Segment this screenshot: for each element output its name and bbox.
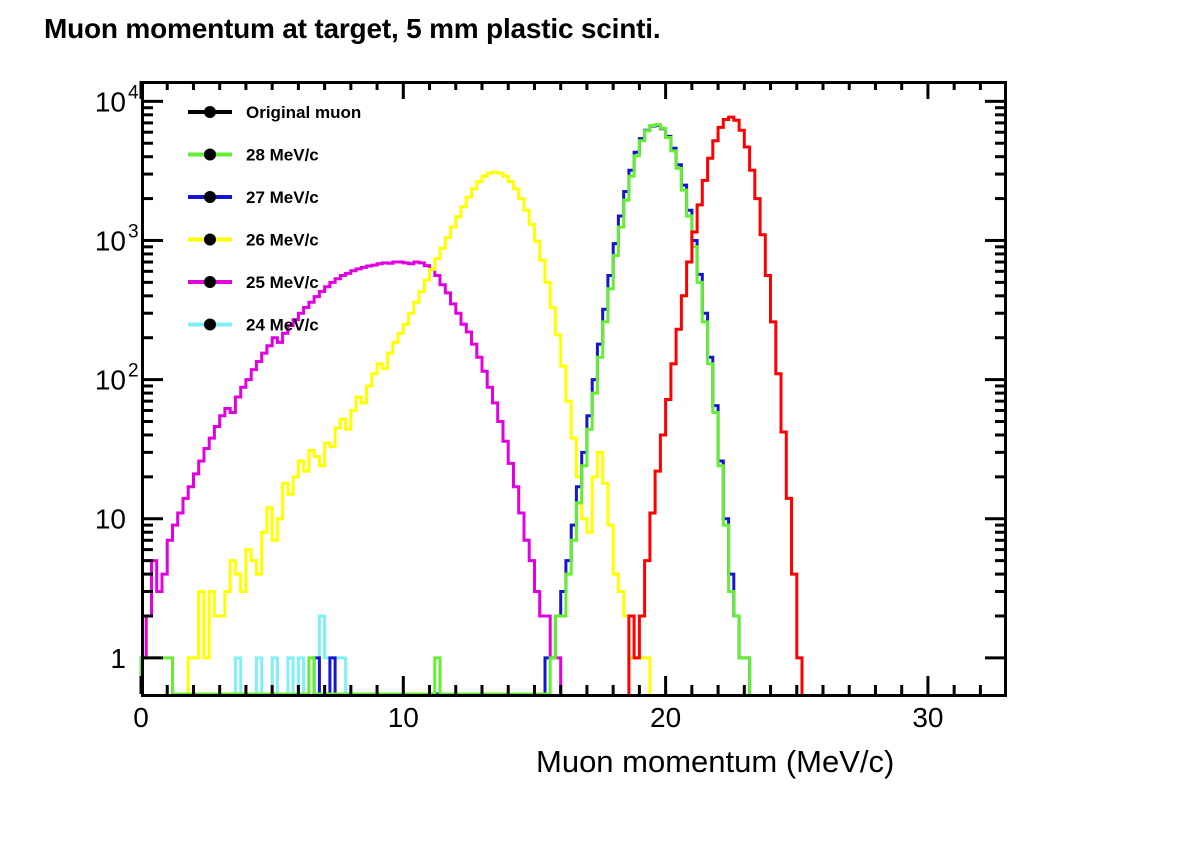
x-tick-label-0: 0: [133, 702, 149, 733]
x-tick-top-10: [402, 81, 405, 99]
x-tick-top-29: [900, 81, 903, 90]
y-tick-label-group-2: 102: [95, 361, 139, 396]
y-tick-6000: [141, 131, 153, 134]
y-tick-2: [141, 614, 153, 617]
legend-entry-3[interactable]: 26 MeV/c: [188, 231, 319, 250]
x-tick-32: [979, 685, 982, 694]
y-tick-2000: [141, 197, 153, 200]
y-tick-right-10: [985, 517, 1007, 520]
x-tick-24: [769, 685, 772, 694]
series-curve-28-mev-c: [141, 125, 750, 694]
y-tick-right-20: [995, 475, 1007, 478]
y-tick-900: [141, 245, 153, 248]
x-tick-27: [848, 685, 851, 694]
y-tick-50: [141, 420, 153, 423]
x-tick-top-27: [848, 81, 851, 90]
y-tick-right-700: [995, 261, 1007, 264]
x-tick-22: [717, 685, 720, 694]
x-tick-25: [795, 685, 798, 694]
y-tick-right-100: [985, 378, 1007, 381]
y-tick-40: [141, 433, 153, 436]
y-tick-right-60: [995, 409, 1007, 412]
y-tick-right-500: [995, 281, 1007, 284]
x-tick-0: [140, 676, 143, 694]
y-tick-10000: [141, 100, 163, 103]
histogram-plot: 0102030110102103104 Original muon28 MeV/…: [0, 0, 1181, 847]
x-tick-28: [874, 685, 877, 694]
x-tick-top-5: [271, 81, 274, 90]
x-tick-8: [349, 685, 352, 694]
x-tick-top-22: [717, 81, 720, 90]
y-tick-right-300: [995, 312, 1007, 315]
legend-layer: Original muon28 MeV/c27 MeV/c26 MeV/c25 …: [188, 103, 361, 335]
legend-entry-4[interactable]: 25 MeV/c: [188, 273, 319, 292]
y-tick-5000: [141, 142, 153, 145]
x-tick-13: [481, 685, 484, 694]
x-tick-20: [664, 676, 667, 694]
y-tick-6: [141, 548, 153, 551]
y-tick-500: [141, 281, 153, 284]
x-tick-30: [926, 676, 929, 694]
y-tick-60: [141, 409, 153, 412]
y-tick-800: [141, 252, 153, 255]
legend-label-3: 26 MeV/c: [246, 231, 319, 250]
y-tick-8000: [141, 113, 153, 116]
y-tick-right-10000: [985, 100, 1007, 103]
y-tick-5: [141, 559, 153, 562]
x-tick-top-31: [953, 81, 956, 90]
chart-canvas: Muon momentum at target, 5 mm plastic sc…: [0, 0, 1181, 847]
page-title: Muon momentum at target, 5 mm plastic sc…: [44, 13, 660, 45]
x-tick-14: [507, 685, 510, 694]
x-tick-26: [822, 685, 825, 694]
y-tick-30: [141, 451, 153, 454]
y-tick-label-group-3: 103: [95, 221, 139, 256]
y-tick-label-2: 10: [95, 365, 126, 396]
x-tick-top-24: [769, 81, 772, 90]
x-tick-top-1: [166, 81, 169, 90]
x-tick-top-14: [507, 81, 510, 90]
y-tick-right-6: [995, 548, 1007, 551]
y-tick-right-7000: [995, 121, 1007, 124]
y-tick-label-group-1: 10: [95, 504, 126, 535]
x-tick-top-15: [533, 81, 536, 90]
y-tick-right-40: [995, 433, 1007, 436]
x-tick-18: [612, 685, 615, 694]
x-tick-4: [244, 685, 247, 694]
y-tick-70: [141, 400, 153, 403]
x-tick-top-19: [638, 81, 641, 90]
x-tick-top-16: [559, 81, 562, 90]
x-tick-5: [271, 685, 274, 694]
x-tick-top-26: [822, 81, 825, 90]
legend-marker-1: [204, 149, 216, 161]
y-tick-90: [141, 384, 153, 387]
legend-label-4: 25 MeV/c: [246, 273, 319, 292]
legend-entry-5[interactable]: 24 MeV/c: [188, 316, 319, 335]
series-curve-26-mev-c: [188, 172, 650, 694]
y-tick-right-200: [995, 336, 1007, 339]
y-tick-right-1: [985, 656, 1007, 659]
y-tick-right-9: [995, 524, 1007, 527]
y-tick-9: [141, 524, 153, 527]
y-tick-right-90: [995, 384, 1007, 387]
y-tick-3000: [141, 173, 153, 176]
x-tick-top-20: [664, 81, 667, 99]
legend-entry-0[interactable]: Original muon: [188, 103, 361, 122]
x-tick-11: [428, 685, 431, 694]
x-tick-top-30: [926, 81, 929, 99]
x-tick-top-12: [454, 81, 457, 90]
x-tick-top-18: [612, 81, 615, 90]
legend-entry-2[interactable]: 27 MeV/c: [188, 188, 319, 207]
x-tick-top-3: [218, 81, 221, 90]
y-tick-400: [141, 294, 153, 297]
y-tick-right-4000: [995, 155, 1007, 158]
y-tick-right-800: [995, 252, 1007, 255]
y-tick-right-3: [995, 590, 1007, 593]
x-tick-29: [900, 685, 903, 694]
y-tick-label-group-0: 1: [110, 643, 126, 674]
y-tick-4000: [141, 155, 153, 158]
x-tick-label-30: 30: [912, 702, 943, 733]
legend-marker-5: [204, 319, 216, 331]
y-tick-right-50: [995, 420, 1007, 423]
y-tick-right-5000: [995, 142, 1007, 145]
y-tick-3: [141, 590, 153, 593]
y-tick-label-exponent-4: 4: [128, 82, 139, 103]
x-tick-23: [743, 685, 746, 694]
series-curve-27-mev-c: [314, 126, 749, 695]
y-tick-right-80: [995, 392, 1007, 395]
legend-label-5: 24 MeV/c: [246, 316, 319, 335]
y-tick-right-600: [995, 270, 1007, 273]
x-tick-31: [953, 685, 956, 694]
x-tick-7: [323, 685, 326, 694]
y-tick-label-exponent-2: 2: [128, 361, 139, 382]
y-tick-right-900: [995, 245, 1007, 248]
x-tick-top-6: [297, 81, 300, 90]
y-tick-label-4: 10: [95, 86, 126, 117]
x-tick-top-17: [585, 81, 588, 90]
legend-entry-1[interactable]: 28 MeV/c: [188, 146, 319, 165]
legend-marker-4: [204, 276, 216, 288]
x-tick-3: [218, 685, 221, 694]
x-tick-17: [585, 685, 588, 694]
legend-marker-2: [204, 191, 216, 203]
x-tick-top-32: [979, 81, 982, 90]
y-tick-right-30: [995, 451, 1007, 454]
x-tick-top-9: [376, 81, 379, 90]
legend-marker-3: [204, 234, 216, 246]
x-tick-1: [166, 685, 169, 694]
x-tick-19: [638, 685, 641, 694]
y-tick-right-5: [995, 559, 1007, 562]
x-tick-10: [402, 676, 405, 694]
x-tick-6: [297, 685, 300, 694]
y-tick-1000: [141, 239, 163, 242]
y-tick-7: [141, 539, 153, 542]
y-tick-right-2: [995, 614, 1007, 617]
x-tick-top-4: [244, 81, 247, 90]
y-tick-label-0: 1: [110, 643, 126, 674]
x-tick-top-2: [192, 81, 195, 90]
x-tick-top-0: [140, 81, 143, 99]
x-tick-label-10: 10: [388, 702, 419, 733]
x-tick-top-28: [874, 81, 877, 90]
x-tick-21: [690, 685, 693, 694]
x-tick-label-20: 20: [650, 702, 681, 733]
y-tick-right-7: [995, 539, 1007, 542]
x-tick-top-13: [481, 81, 484, 90]
y-tick-right-2000: [995, 197, 1007, 200]
x-tick-12: [454, 685, 457, 694]
y-tick-right-8000: [995, 113, 1007, 116]
y-tick-right-6000: [995, 131, 1007, 134]
legend-label-0: Original muon: [246, 103, 361, 122]
x-tick-9: [376, 685, 379, 694]
y-tick-label-group-4: 104: [95, 82, 139, 117]
y-tick-600: [141, 270, 153, 273]
legend-marker-0: [204, 106, 216, 118]
y-tick-right-1000: [985, 239, 1007, 242]
y-tick-right-8: [995, 531, 1007, 534]
y-tick-right-400: [995, 294, 1007, 297]
y-tick-1: [141, 656, 163, 659]
y-tick-label-exponent-3: 3: [128, 221, 139, 242]
y-tick-right-3000: [995, 173, 1007, 176]
y-tick-right-70: [995, 400, 1007, 403]
y-tick-10: [141, 517, 163, 520]
x-tick-top-11: [428, 81, 431, 90]
y-tick-300: [141, 312, 153, 315]
y-tick-4: [141, 573, 153, 576]
y-tick-20: [141, 475, 153, 478]
x-tick-15: [533, 685, 536, 694]
axis-frame-layer: [140, 81, 1008, 697]
y-tick-8: [141, 531, 153, 534]
legend-label-2: 27 MeV/c: [246, 188, 319, 207]
x-tick-16: [559, 685, 562, 694]
x-axis-title: Muon momentum (MeV/c): [536, 744, 894, 780]
y-tick-label-1: 10: [95, 504, 126, 535]
y-tick-7000: [141, 121, 153, 124]
series-layer: [141, 117, 802, 694]
y-tick-700: [141, 261, 153, 264]
x-tick-top-8: [349, 81, 352, 90]
tick-label-layer: 0102030110102103104: [95, 82, 944, 733]
x-tick-2: [192, 685, 195, 694]
y-tick-200: [141, 336, 153, 339]
x-tick-top-23: [743, 81, 746, 90]
x-tick-top-25: [795, 81, 798, 90]
y-tick-80: [141, 392, 153, 395]
y-tick-right-9000: [995, 106, 1007, 109]
axis-frame-bottom: [141, 694, 1004, 697]
y-tick-9000: [141, 106, 153, 109]
y-tick-right-4: [995, 573, 1007, 576]
legend-label-1: 28 MeV/c: [246, 146, 319, 165]
y-tick-100: [141, 378, 163, 381]
x-tick-top-21: [690, 81, 693, 90]
y-tick-label-3: 10: [95, 225, 126, 256]
x-tick-top-7: [323, 81, 326, 90]
